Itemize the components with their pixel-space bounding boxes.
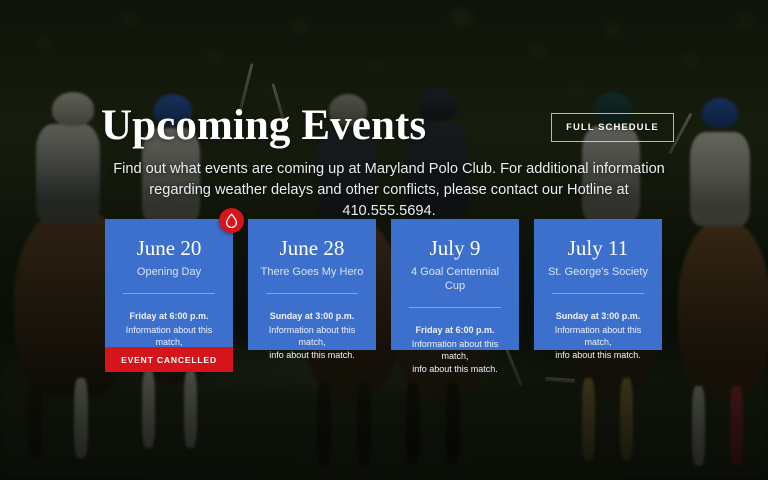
event-time: Friday at 6:00 p.m. — [115, 310, 223, 323]
event-time: Sunday at 3:00 p.m. — [544, 310, 652, 323]
event-card[interactable]: June 28 There Goes My Hero Sunday at 3:0… — [248, 219, 376, 350]
divider — [266, 293, 358, 294]
rain-drop-icon — [219, 208, 244, 233]
event-description-line2: info about this match. — [258, 349, 366, 362]
event-date: June 20 — [115, 237, 223, 259]
event-date: July 11 — [544, 237, 652, 259]
page-title: Upcoming Events — [101, 104, 426, 147]
event-details: Friday at 6:00 p.m. Information about th… — [401, 324, 509, 375]
event-card-list: June 20 Opening Day Friday at 6:00 p.m. … — [105, 219, 665, 354]
event-description-line1: Information about this match, — [544, 324, 652, 349]
event-card[interactable]: June 20 Opening Day Friday at 6:00 p.m. … — [105, 219, 233, 372]
divider — [552, 293, 644, 294]
hero-content: Upcoming Events FULL SCHEDULE Find out w… — [0, 0, 768, 480]
event-date: June 28 — [258, 237, 366, 259]
event-time: Sunday at 3:00 p.m. — [258, 310, 366, 323]
event-description-line1: Information about this match, — [258, 324, 366, 349]
event-card[interactable]: July 11 St. George's Society Sunday at 3… — [534, 219, 662, 350]
hero-section: Upcoming Events FULL SCHEDULE Find out w… — [0, 0, 768, 480]
event-details: Sunday at 3:00 p.m. Information about th… — [258, 310, 366, 361]
status-badge: EVENT CANCELLED — [105, 347, 233, 372]
event-description-line1: Information about this match, — [401, 338, 509, 363]
event-name: 4 Goal Centennial Cup — [401, 265, 509, 293]
event-card[interactable]: July 9 4 Goal Centennial Cup Friday at 6… — [391, 219, 519, 350]
event-name: St. George's Society — [544, 265, 652, 279]
hero-subtitle: Find out what events are coming up at Ma… — [104, 159, 674, 222]
event-description-line2: info about this match. — [401, 363, 509, 376]
event-name: Opening Day — [115, 265, 223, 279]
event-time: Friday at 6:00 p.m. — [401, 324, 509, 337]
event-description-line1: Information about this match, — [115, 324, 223, 349]
divider — [123, 293, 215, 294]
event-name: There Goes My Hero — [258, 265, 366, 279]
divider — [409, 307, 501, 308]
event-date: July 9 — [401, 237, 509, 259]
full-schedule-button[interactable]: FULL SCHEDULE — [551, 113, 674, 142]
event-details: Sunday at 3:00 p.m. Information about th… — [544, 310, 652, 361]
event-description-line2: info about this match. — [544, 349, 652, 362]
